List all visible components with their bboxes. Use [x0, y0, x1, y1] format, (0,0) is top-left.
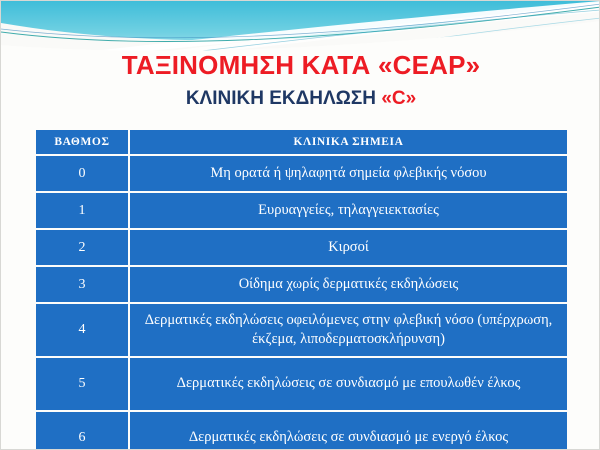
- cell-grade: 6: [36, 412, 128, 450]
- cell-grade: 2: [36, 230, 128, 265]
- page-subtitle-accent: «C»: [381, 88, 416, 109]
- table-row: 2 Κιρσοί: [36, 230, 567, 265]
- page-title: ΤΑΞΙΝΟΜΗΣΗ ΚΑΤΑ «CEAP»: [1, 51, 600, 80]
- wave-graphic: [1, 1, 600, 57]
- column-header-grade: ΒΑΘΜΟΣ: [36, 130, 128, 154]
- cell-grade: 1: [36, 193, 128, 228]
- table-row: 6 Δερματικές εκδηλώσεις σε συνδιασμό με …: [36, 412, 567, 450]
- cell-clinical-sign: Δερματικές εκδηλώσεις σε συνδιασμό με εν…: [130, 412, 567, 450]
- table-row: 1 Ευρυαγγείες, τηλαγγειεκτασίες: [36, 193, 567, 228]
- column-header-clinical-signs: ΚΛΙΝΙΚΑ ΣΗΜΕΙΑ: [130, 130, 567, 154]
- cell-clinical-sign: Ευρυαγγείες, τηλαγγειεκτασίες: [130, 193, 567, 228]
- cell-grade: 0: [36, 156, 128, 191]
- table-row: 5 Δερματικές εκδηλώσεις σε συνδιασμό με …: [36, 358, 567, 410]
- cell-clinical-sign: Οίδημα χωρίς δερματικές εκδηλώσεις: [130, 267, 567, 302]
- page-subtitle: ΚΛΙΝΙΚΗ ΕΚΔΗΛΩΣΗ «C»: [1, 89, 600, 110]
- cell-grade: 3: [36, 267, 128, 302]
- table-row: 4 Δερματικές εκδηλώσεις οφειλόμενες στην…: [36, 304, 567, 356]
- cell-clinical-sign: Κιρσοί: [130, 230, 567, 265]
- cell-clinical-sign: Μη ορατά ή ψηλαφητά σημεία φλεβικής νόσο…: [130, 156, 567, 191]
- decorative-wave-banner: [1, 1, 600, 57]
- cell-grade: 5: [36, 358, 128, 410]
- ceap-table-container: ΒΑΘΜΟΣ ΚΛΙΝΙΚΑ ΣΗΜΕΙΑ 0 Μη ορατά ή ψηλαφ…: [34, 128, 567, 450]
- table-head: ΒΑΘΜΟΣ ΚΛΙΝΙΚΑ ΣΗΜΕΙΑ: [36, 130, 567, 154]
- table-body: 0 Μη ορατά ή ψηλαφητά σημεία φλεβικής νό…: [36, 156, 567, 450]
- table-row: 0 Μη ορατά ή ψηλαφητά σημεία φλεβικής νό…: [36, 156, 567, 191]
- title-block: ΤΑΞΙΝΟΜΗΣΗ ΚΑΤΑ «CEAP» ΚΛΙΝΙΚΗ ΕΚΔΗΛΩΣΗ …: [1, 51, 600, 109]
- cell-clinical-sign: Δερματικές εκδηλώσεις σε συνδιασμό με επ…: [130, 358, 567, 410]
- table-header-row: ΒΑΘΜΟΣ ΚΛΙΝΙΚΑ ΣΗΜΕΙΑ: [36, 130, 567, 154]
- slide: ΤΑΞΙΝΟΜΗΣΗ ΚΑΤΑ «CEAP» ΚΛΙΝΙΚΗ ΕΚΔΗΛΩΣΗ …: [0, 0, 600, 450]
- ceap-classification-table: ΒΑΘΜΟΣ ΚΛΙΝΙΚΑ ΣΗΜΕΙΑ 0 Μη ορατά ή ψηλαφ…: [34, 128, 569, 450]
- cell-grade: 4: [36, 304, 128, 356]
- page-subtitle-text: ΚΛΙΝΙΚΗ ΕΚΔΗΛΩΣΗ: [186, 88, 381, 109]
- cell-clinical-sign: Δερματικές εκδηλώσεις οφειλόμενες στην φ…: [130, 304, 567, 356]
- table-row: 3 Οίδημα χωρίς δερματικές εκδηλώσεις: [36, 267, 567, 302]
